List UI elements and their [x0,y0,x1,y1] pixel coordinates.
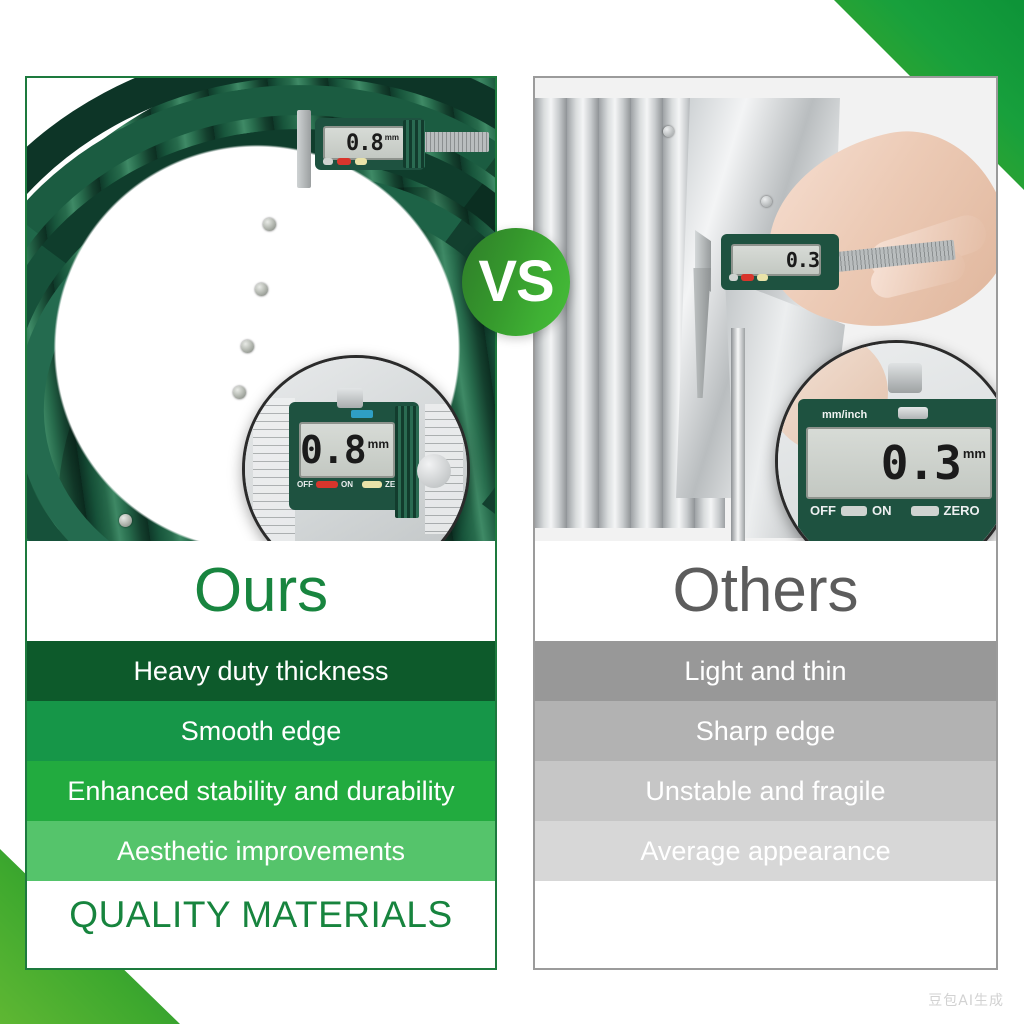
others-product-photo: 0.3 mm/inch 0.3 mm [535,78,996,541]
ours-feature-row: Aesthetic improvements [27,821,495,881]
ours-feature-row: Smooth edge [27,701,495,761]
others-feature-label: Light and thin [684,656,846,687]
caliper-small: 0.3 [695,228,955,298]
caliper-zero-label: ZERO [944,503,980,518]
ours-feature-row: Enhanced stability and durability [27,761,495,821]
ours-title-box: Ours [27,541,495,641]
ours-feature-label: Aesthetic improvements [117,836,405,867]
ours-feature-label: Heavy duty thickness [133,656,388,687]
ours-caliper-reading: 0.8 [300,428,366,472]
bolt-icon [761,196,772,207]
others-footer-box [535,881,996,949]
others-feature-label: Average appearance [640,836,890,867]
others-title: Others [672,560,858,622]
others-caliper-unit: mm [963,446,986,461]
bolt-icon [263,218,276,231]
caliper-mode-label: mm/inch [822,409,867,421]
caliper-on-label: ON [872,503,892,518]
bolt-icon [241,340,254,353]
others-feature-row: Unstable and fragile [535,761,996,821]
bolt-icon [255,283,268,296]
ours-magnifier-circle: 0.8 mm OFF ON ZERO [242,355,470,541]
ours-caliper-unit: mm [368,437,389,451]
others-feature-row: Sharp edge [535,701,996,761]
ours-footer-box: QUALITY MATERIALS [27,881,495,949]
caliper-small-unit: mm [385,133,399,142]
others-feature-label: Sharp edge [696,716,836,747]
quality-materials-label: QUALITY MATERIALS [69,894,452,936]
metal-sheet-edge [731,328,745,541]
others-feature-row: Light and thin [535,641,996,701]
vs-badge: VS [462,228,570,336]
caliper-small-reading: 0.3 [786,248,819,272]
infographic-canvas: 0.8 mm 0.8 [0,0,1024,1024]
bolt-icon [119,514,132,527]
vs-label: VS [478,253,553,311]
caliper-small: 0.8 mm [299,110,489,190]
others-feature-list: Light and thin Sharp edge Unstable and f… [535,641,996,881]
ours-product-photo: 0.8 mm 0.8 [27,78,495,541]
ours-feature-label: Enhanced stability and durability [67,776,454,807]
watermark: 豆包AI生成 [928,990,1004,1010]
others-feature-label: Unstable and fragile [645,776,885,807]
others-magnifier-circle: mm/inch 0.3 mm OFF ON ZERO [775,340,996,541]
ours-feature-label: Smooth edge [181,716,342,747]
others-title-box: Others [535,541,996,641]
others-caliper-reading: 0.3 [881,436,961,490]
others-panel: 0.3 mm/inch 0.3 mm [533,76,998,970]
ours-feature-row: Heavy duty thickness [27,641,495,701]
ours-title: Ours [194,560,328,622]
caliper-on-label: ON [341,480,353,489]
ours-feature-list: Heavy duty thickness Smooth edge Enhance… [27,641,495,881]
caliper-off-label: OFF [810,503,836,518]
others-feature-row: Average appearance [535,821,996,881]
caliper-small-reading: 0.8 [346,131,383,156]
ours-panel: 0.8 mm 0.8 [25,76,497,970]
bolt-icon [663,126,674,137]
caliper-off-label: OFF [297,480,313,489]
